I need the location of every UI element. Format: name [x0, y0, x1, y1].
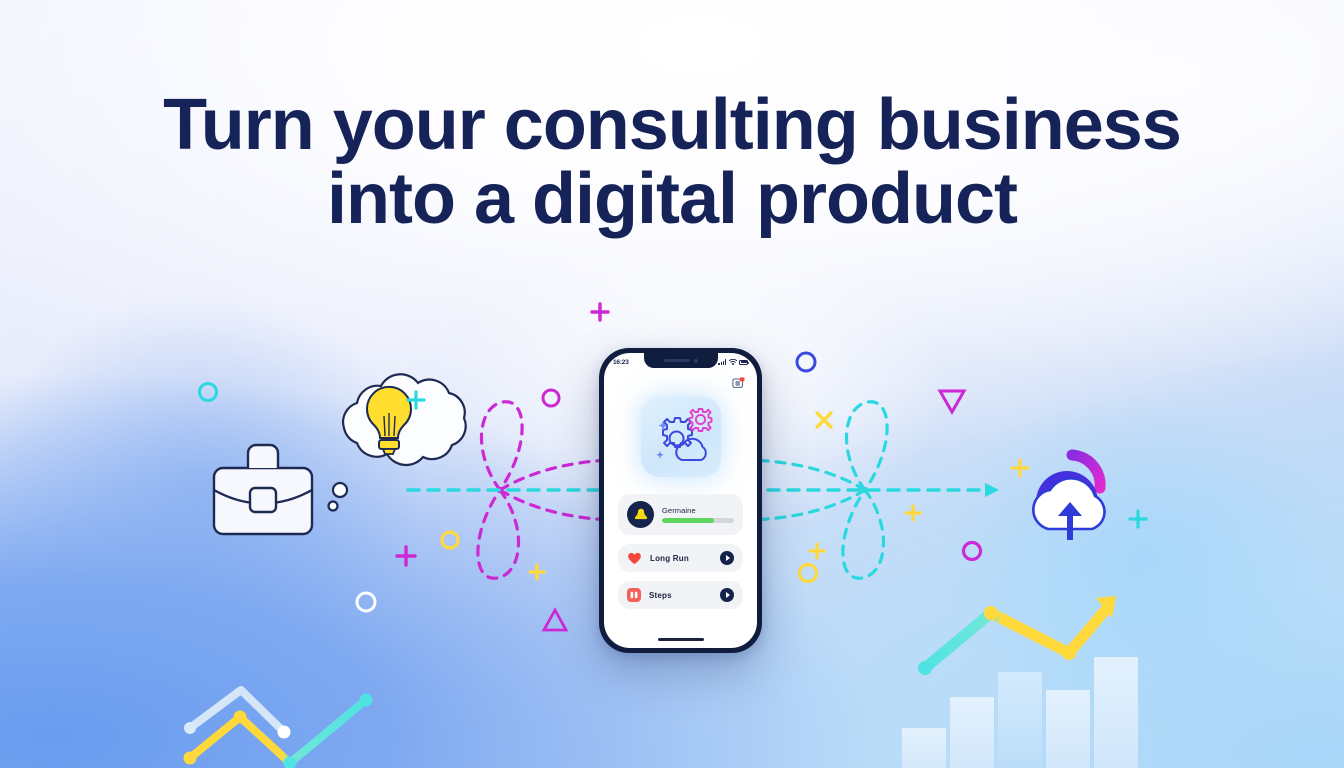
- person-avatar-icon: [633, 507, 649, 522]
- user-name: Germaine: [662, 506, 734, 515]
- play-icon[interactable]: [720, 588, 734, 602]
- phone-screen: 16:23: [604, 353, 757, 648]
- page-title: Turn your consulting business into a dig…: [0, 88, 1344, 236]
- progress-track: [662, 518, 734, 523]
- play-icon[interactable]: [720, 551, 734, 565]
- phone-mockup: 16:23: [599, 348, 762, 653]
- progress-fill: [662, 518, 714, 523]
- status-time: 16:23: [613, 359, 629, 366]
- list-item-label: Steps: [649, 591, 712, 600]
- list-item-user[interactable]: Germaine: [618, 494, 743, 535]
- headline-line-1: Turn your consulting business: [163, 85, 1181, 165]
- battery-icon: [739, 360, 748, 365]
- heart-icon: [627, 551, 642, 565]
- slide-canvas: Turn your consulting business into a dig…: [0, 0, 1344, 768]
- signal-bars-icon: [718, 359, 726, 365]
- list-item-steps[interactable]: Steps: [618, 581, 743, 609]
- hero-illustration-card: [641, 397, 721, 477]
- status-bar: 16:23: [604, 353, 757, 369]
- list-item-label: Long Run: [650, 554, 712, 563]
- headline-line-2: into a digital product: [0, 162, 1344, 236]
- phone-list: Germaine Long Run: [618, 494, 743, 618]
- steps-glyph-icon: [630, 591, 638, 599]
- wifi-icon: [729, 359, 737, 365]
- user-meta: Germaine: [662, 506, 734, 523]
- steps-square-icon: [627, 588, 641, 602]
- list-item-long-run[interactable]: Long Run: [618, 544, 743, 572]
- gears-cloud-icon: [641, 397, 721, 477]
- notification-badge-icon[interactable]: [732, 377, 745, 389]
- status-icons: [718, 359, 748, 365]
- home-indicator[interactable]: [658, 638, 704, 641]
- avatar: [627, 501, 654, 528]
